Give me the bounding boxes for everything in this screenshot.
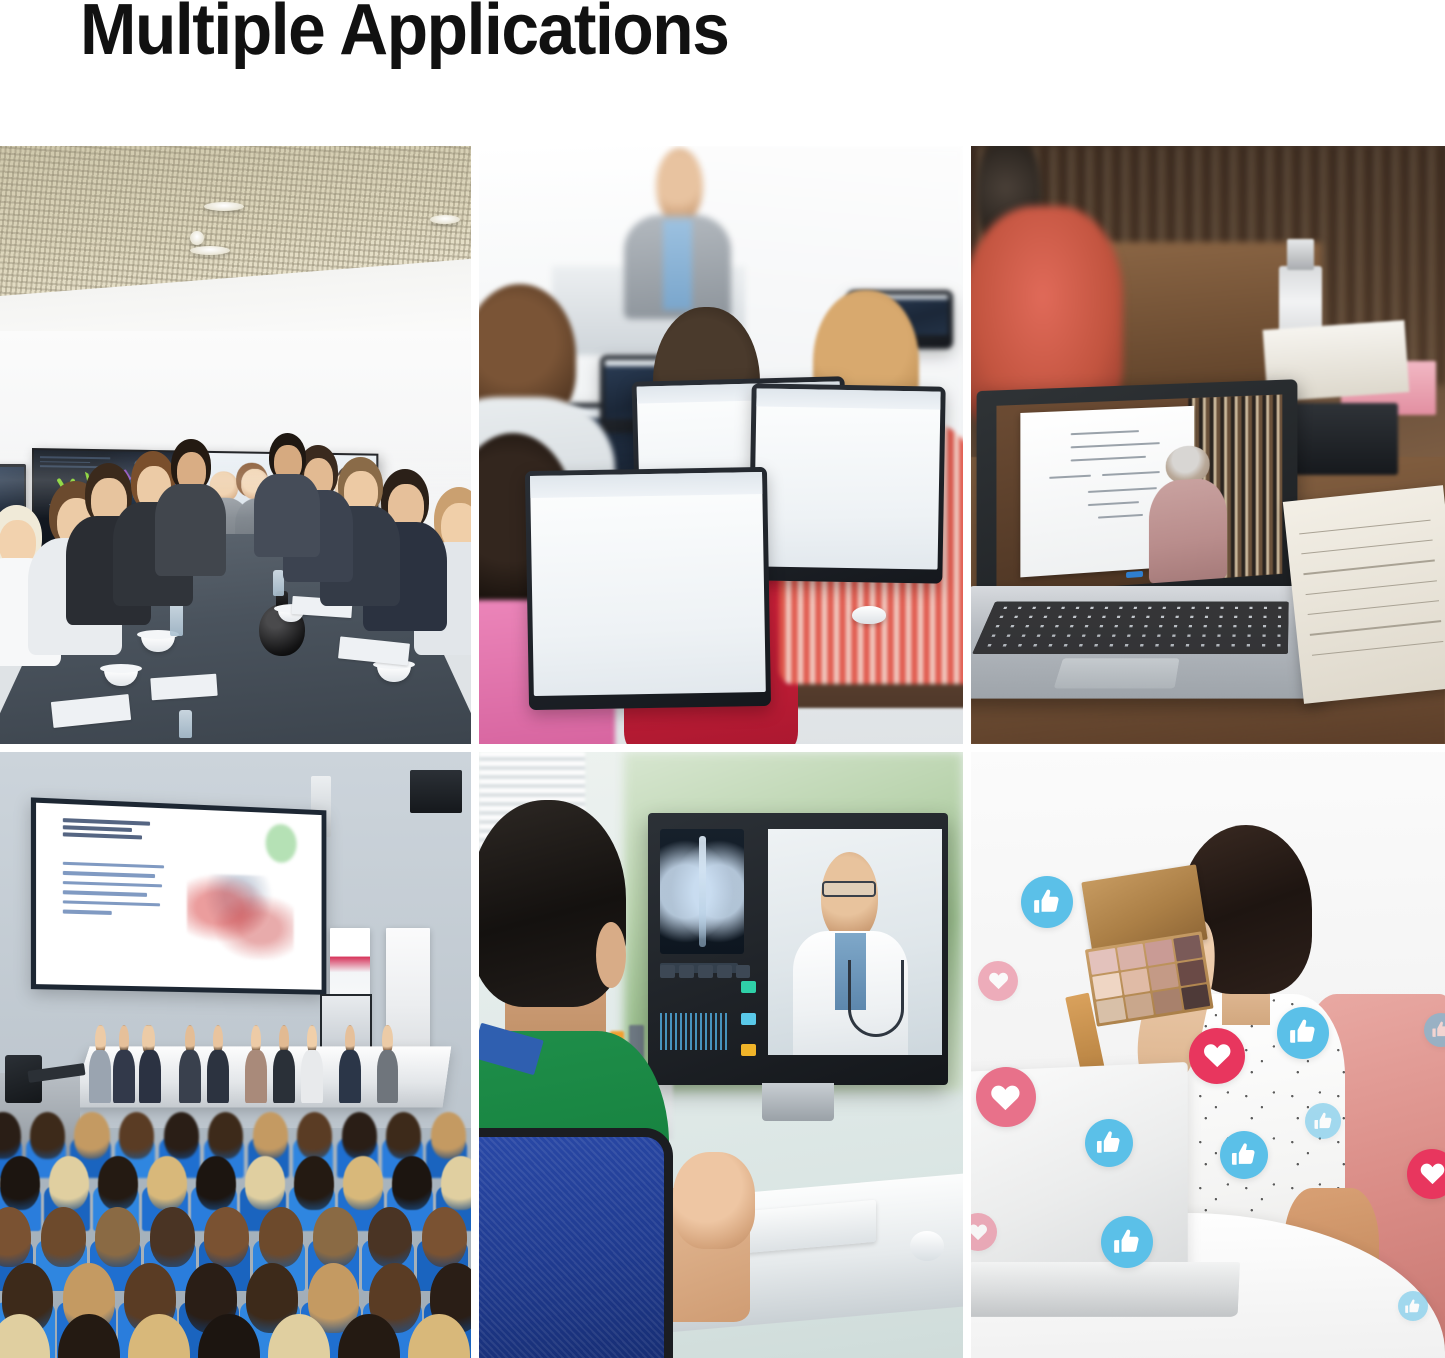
palette-swatch bbox=[1092, 973, 1122, 1000]
grid-gutter bbox=[963, 752, 971, 1358]
palette-swatch bbox=[1148, 964, 1178, 991]
panel-telemedicine-video-consult bbox=[479, 752, 963, 1358]
teacher-body bbox=[1149, 477, 1228, 583]
audience-head bbox=[164, 1112, 199, 1159]
instructor-figure bbox=[624, 146, 730, 313]
palette-swatch bbox=[1173, 935, 1203, 962]
audience-head bbox=[422, 1207, 467, 1267]
audience-head bbox=[150, 1207, 195, 1267]
audience-head bbox=[30, 1112, 65, 1159]
ceiling-projector bbox=[410, 770, 462, 812]
audience-head bbox=[259, 1207, 304, 1267]
document-paper bbox=[150, 674, 217, 701]
palette-swatch bbox=[1096, 997, 1126, 1024]
palette-swatch bbox=[1144, 939, 1174, 966]
audience-head bbox=[196, 1156, 236, 1210]
heart-icon bbox=[1189, 1028, 1245, 1084]
panel-computer-classroom-lab bbox=[479, 146, 963, 744]
applications-collage: 72m 34m bbox=[0, 146, 1445, 1358]
thumbs-up-icon bbox=[1220, 1131, 1268, 1179]
audience-head bbox=[204, 1207, 249, 1267]
panel-lecture-hall-panel-event bbox=[0, 752, 471, 1358]
vitals-badge-amber bbox=[741, 1044, 756, 1056]
ceiling-downlight bbox=[204, 202, 244, 211]
heart-icon bbox=[976, 1067, 1036, 1127]
doctor-glasses bbox=[822, 881, 876, 897]
boardroom-scene: 72m 34m bbox=[0, 146, 471, 744]
palette-swatch bbox=[1152, 988, 1182, 1015]
worker-hand bbox=[673, 1152, 755, 1249]
panel-laptop-remote-lecture-library bbox=[971, 146, 1445, 744]
laptop-base bbox=[971, 586, 1324, 698]
thumbs-up-icon bbox=[1398, 1291, 1428, 1321]
laptop-trackpad bbox=[1053, 659, 1179, 688]
ceiling-downlight bbox=[430, 215, 460, 224]
livestream-scene bbox=[971, 752, 1445, 1358]
audience-head bbox=[392, 1156, 432, 1210]
vitals-badge-blue bbox=[741, 1013, 756, 1025]
foreground-monitor bbox=[748, 384, 945, 585]
boardroom-attendee bbox=[254, 433, 320, 553]
screen-teacher-figure bbox=[1149, 444, 1228, 583]
palette-swatch bbox=[1124, 993, 1154, 1020]
heart-icon bbox=[978, 961, 1018, 1001]
vitals-badge-green bbox=[741, 981, 756, 993]
library-scene bbox=[971, 146, 1445, 744]
grid-gutter bbox=[963, 146, 971, 744]
audience-head bbox=[0, 1156, 40, 1210]
audience-head bbox=[245, 1156, 285, 1210]
grid-gutter bbox=[471, 146, 479, 744]
audience-head bbox=[342, 1112, 377, 1159]
palette-swatch bbox=[1177, 959, 1207, 986]
audience-head bbox=[147, 1156, 187, 1210]
doctor-head bbox=[821, 852, 878, 943]
slide-product-image bbox=[187, 873, 294, 961]
audience-head bbox=[41, 1207, 86, 1267]
ceiling-downlight bbox=[190, 246, 230, 255]
audience-head bbox=[208, 1112, 243, 1159]
paper-notebook bbox=[1283, 485, 1445, 704]
projection-screen bbox=[31, 797, 326, 994]
classroom-scene bbox=[479, 146, 963, 744]
worker-ear bbox=[596, 922, 626, 989]
palette-swatch bbox=[1120, 968, 1150, 995]
palette-swatch bbox=[1088, 948, 1118, 975]
laptop-screen bbox=[997, 395, 1282, 595]
boardroom-attendee bbox=[155, 439, 226, 571]
thumbs-up-icon bbox=[1021, 876, 1073, 928]
laptop-keyboard bbox=[972, 602, 1289, 654]
smoke-detector bbox=[190, 231, 204, 245]
laptop-lid bbox=[977, 379, 1298, 616]
foreground-monitor-primary bbox=[525, 467, 771, 710]
lecture-hall-scene bbox=[0, 752, 471, 1358]
attendee-torso bbox=[254, 474, 320, 558]
slide-green-accent bbox=[266, 823, 297, 863]
audience-head bbox=[49, 1156, 89, 1210]
audience-head bbox=[98, 1156, 138, 1210]
audience-head bbox=[343, 1156, 383, 1210]
slide-heading-lines bbox=[63, 818, 162, 843]
slide-body-lines bbox=[63, 861, 173, 922]
panel-live-stream-beauty-influencer bbox=[971, 752, 1445, 1358]
audience-head bbox=[95, 1207, 140, 1267]
telemedicine-scene bbox=[479, 752, 963, 1358]
audience-seating bbox=[0, 1043, 471, 1358]
water-bottle bbox=[179, 710, 192, 738]
thumbs-up-icon bbox=[1101, 1216, 1153, 1268]
audience-head bbox=[119, 1112, 154, 1159]
audience-head bbox=[431, 1112, 466, 1159]
audience-head bbox=[386, 1112, 421, 1159]
computer-mouse bbox=[910, 1231, 944, 1261]
audience-head bbox=[368, 1207, 413, 1267]
palette-swatch bbox=[1116, 944, 1146, 971]
thumbs-up-icon bbox=[1277, 1007, 1329, 1059]
eyeshadow-palette bbox=[1074, 864, 1218, 1027]
thumbs-up-icon bbox=[1085, 1119, 1133, 1167]
audience-head bbox=[297, 1112, 332, 1159]
attendee-torso bbox=[155, 484, 226, 576]
audience-head bbox=[294, 1156, 334, 1210]
audience-head bbox=[313, 1207, 358, 1267]
laptop-base bbox=[971, 1262, 1240, 1317]
laptop bbox=[980, 385, 1331, 732]
whiteboard-marker bbox=[1126, 571, 1143, 578]
grid-gutter bbox=[471, 752, 479, 1358]
palette-swatch bbox=[1180, 984, 1210, 1011]
audience-head bbox=[253, 1112, 288, 1159]
stethoscope bbox=[848, 960, 904, 1037]
panel-corporate-boardroom-video-wall: 72m 34m bbox=[0, 146, 471, 744]
water-bottle bbox=[170, 602, 183, 636]
audience-head bbox=[74, 1112, 109, 1159]
video-call-window bbox=[768, 829, 942, 1055]
computer-mouse bbox=[852, 606, 886, 624]
page-title: Multiple Applications bbox=[80, 0, 728, 66]
audience-head bbox=[441, 1156, 471, 1210]
grid-gutter-row bbox=[0, 744, 1445, 752]
office-chair bbox=[479, 1128, 673, 1358]
